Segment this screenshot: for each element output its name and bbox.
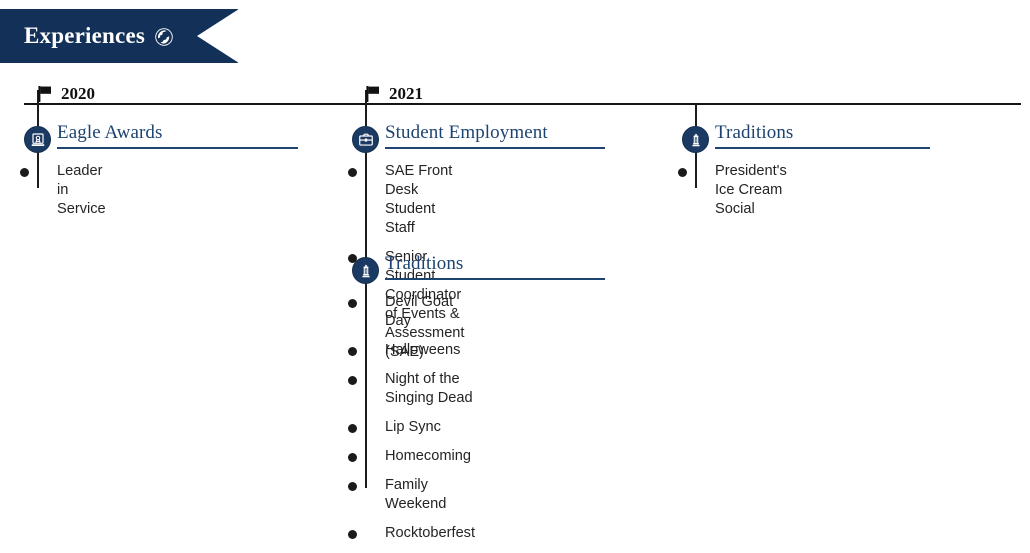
list-item: Rocktoberfest bbox=[352, 524, 475, 543]
event-list: Devil Goat Day Halloweens Night of the S… bbox=[352, 293, 475, 553]
bullet-icon bbox=[348, 424, 357, 433]
timeline-axis bbox=[24, 103, 1021, 105]
experiences-timeline: 2020 Eagle Awards Leader in S bbox=[0, 0, 1030, 488]
lantern-icon bbox=[682, 126, 709, 153]
briefcase-icon bbox=[352, 126, 379, 153]
list-item-label: Lip Sync bbox=[385, 419, 441, 435]
event-list: President's Ice Cream Social bbox=[682, 162, 787, 229]
list-item-label: Leader in Service bbox=[57, 163, 106, 217]
bullet-icon bbox=[348, 299, 357, 308]
event-group-underline bbox=[715, 147, 930, 149]
event-group-underline bbox=[385, 147, 605, 149]
bullet-icon bbox=[20, 168, 29, 177]
list-item-label: SAE Front Desk Student Staff bbox=[385, 163, 452, 236]
event-group-underline bbox=[57, 147, 298, 149]
event-group-title: Student Employment bbox=[385, 122, 548, 144]
list-item-label: President's Ice Cream Social bbox=[715, 163, 787, 217]
bullet-icon bbox=[348, 453, 357, 462]
list-item: Night of the Singing Dead bbox=[352, 370, 475, 408]
list-item: Lip Sync bbox=[352, 418, 475, 437]
list-item: Leader in Service bbox=[24, 162, 106, 219]
list-item-label: Homecoming bbox=[385, 448, 471, 464]
bullet-icon bbox=[348, 530, 357, 539]
year-label: 2020 bbox=[61, 84, 95, 104]
event-group-title: Eagle Awards bbox=[57, 122, 163, 144]
bullet-icon bbox=[348, 168, 357, 177]
list-item-label: Halloweens bbox=[385, 342, 460, 358]
event-group-title: Traditions bbox=[715, 122, 793, 144]
list-item: SAE Front Desk Student Staff bbox=[352, 162, 464, 238]
list-item: President's Ice Cream Social bbox=[682, 162, 787, 219]
event-group-title: Traditions bbox=[385, 253, 463, 275]
list-item-label: Rocktoberfest bbox=[385, 525, 475, 541]
lantern-icon bbox=[352, 257, 379, 284]
event-group-underline bbox=[385, 278, 605, 280]
list-item-label: Family Weekend bbox=[385, 477, 446, 512]
list-item-label: Devil Goat Day bbox=[385, 294, 453, 329]
flag-icon bbox=[37, 85, 55, 103]
flag-icon bbox=[365, 85, 383, 103]
list-item: Family Weekend bbox=[352, 476, 475, 514]
year-marker: 2020 bbox=[37, 84, 95, 104]
event-list: Leader in Service bbox=[24, 162, 106, 229]
list-item-label: Night of the Singing Dead bbox=[385, 371, 473, 406]
bullet-icon bbox=[348, 376, 357, 385]
year-marker: 2021 bbox=[365, 84, 423, 104]
list-item: Homecoming bbox=[352, 447, 475, 466]
bullet-icon bbox=[678, 168, 687, 177]
list-item: Devil Goat Day bbox=[352, 293, 475, 331]
year-label: 2021 bbox=[389, 84, 423, 104]
bullet-icon bbox=[348, 482, 357, 491]
list-item: Halloweens bbox=[352, 341, 475, 360]
award-icon bbox=[24, 126, 51, 153]
bullet-icon bbox=[348, 347, 357, 356]
